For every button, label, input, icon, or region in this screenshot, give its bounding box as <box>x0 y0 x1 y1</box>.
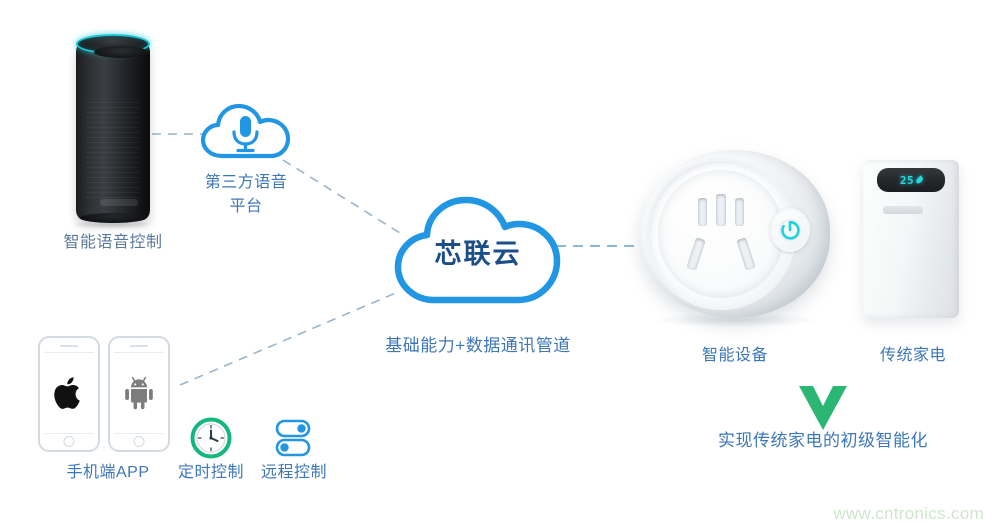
core-cloud-caption: 基础能力+数据通讯管道 <box>358 335 598 356</box>
power-button-icon <box>778 218 802 242</box>
apple-logo-icon <box>53 375 85 411</box>
socket-pin <box>698 198 707 226</box>
remote-label: 远程控制 <box>256 462 332 483</box>
smart-speaker <box>70 28 156 223</box>
phone-speaker-slit <box>60 345 78 347</box>
site-watermark: www.cntronics.com <box>833 504 984 524</box>
voice-cloud-label-line1: 第三方语音 <box>171 172 321 193</box>
phone-home-button <box>134 436 145 447</box>
plug-power-button[interactable] <box>770 208 810 252</box>
phone-speaker-slit <box>130 345 148 347</box>
speaker-logo <box>100 199 138 206</box>
green-chevron-down-icon <box>797 384 849 432</box>
ios-phone-screen <box>44 352 94 434</box>
speaker-body <box>76 42 150 220</box>
appliance-display-value: 25 <box>900 174 914 187</box>
voice-cloud-label-line2: 平台 <box>171 196 321 217</box>
smart-device-label: 智能设备 <box>655 345 815 366</box>
speaker-label: 智能语音控制 <box>20 232 206 253</box>
ios-phone <box>38 336 100 452</box>
timer-control <box>189 416 233 460</box>
mobile-phones <box>38 336 178 454</box>
appliance-slot <box>883 206 923 214</box>
appliance-body: 25 <box>863 160 959 318</box>
appliance-display: 25 <box>877 168 945 192</box>
outcome-arrow <box>797 384 849 432</box>
socket-pin <box>686 237 705 271</box>
iot-architecture-diagram: 智能语音控制 第三方语音 平台 芯联云 基础能力+数据通讯管道 <box>0 0 1000 532</box>
voice-platform-cloud <box>198 100 294 164</box>
speaker-light-ring <box>76 34 150 54</box>
plug-body <box>640 150 830 318</box>
outcome-label: 实现传统家电的初级智能化 <box>688 430 958 451</box>
phones-label: 手机端APP <box>38 462 178 483</box>
remote-control <box>270 416 316 460</box>
core-cloud: 芯联云 <box>388 190 568 310</box>
socket-pin <box>716 194 726 226</box>
android-phone-screen <box>114 352 164 434</box>
appliance-label: 传统家电 <box>843 345 983 366</box>
smart-plug-device <box>640 150 830 325</box>
phone-home-button <box>64 436 75 447</box>
timer-label: 定时控制 <box>173 462 249 483</box>
socket-pin <box>736 237 755 271</box>
socket-pin <box>735 198 744 226</box>
android-robot-icon <box>122 376 156 410</box>
speaker-base <box>80 213 146 223</box>
speaker-top-inner <box>94 46 148 58</box>
water-drop-icon <box>915 175 924 184</box>
traditional-appliance: 25 <box>863 160 959 320</box>
toggle-switches-icon <box>270 416 316 460</box>
core-cloud-label: 芯联云 <box>388 232 568 271</box>
speaker-grill <box>86 102 140 202</box>
clock-icon <box>189 416 233 460</box>
android-phone <box>108 336 170 452</box>
microphone-cloud-icon <box>198 100 294 164</box>
